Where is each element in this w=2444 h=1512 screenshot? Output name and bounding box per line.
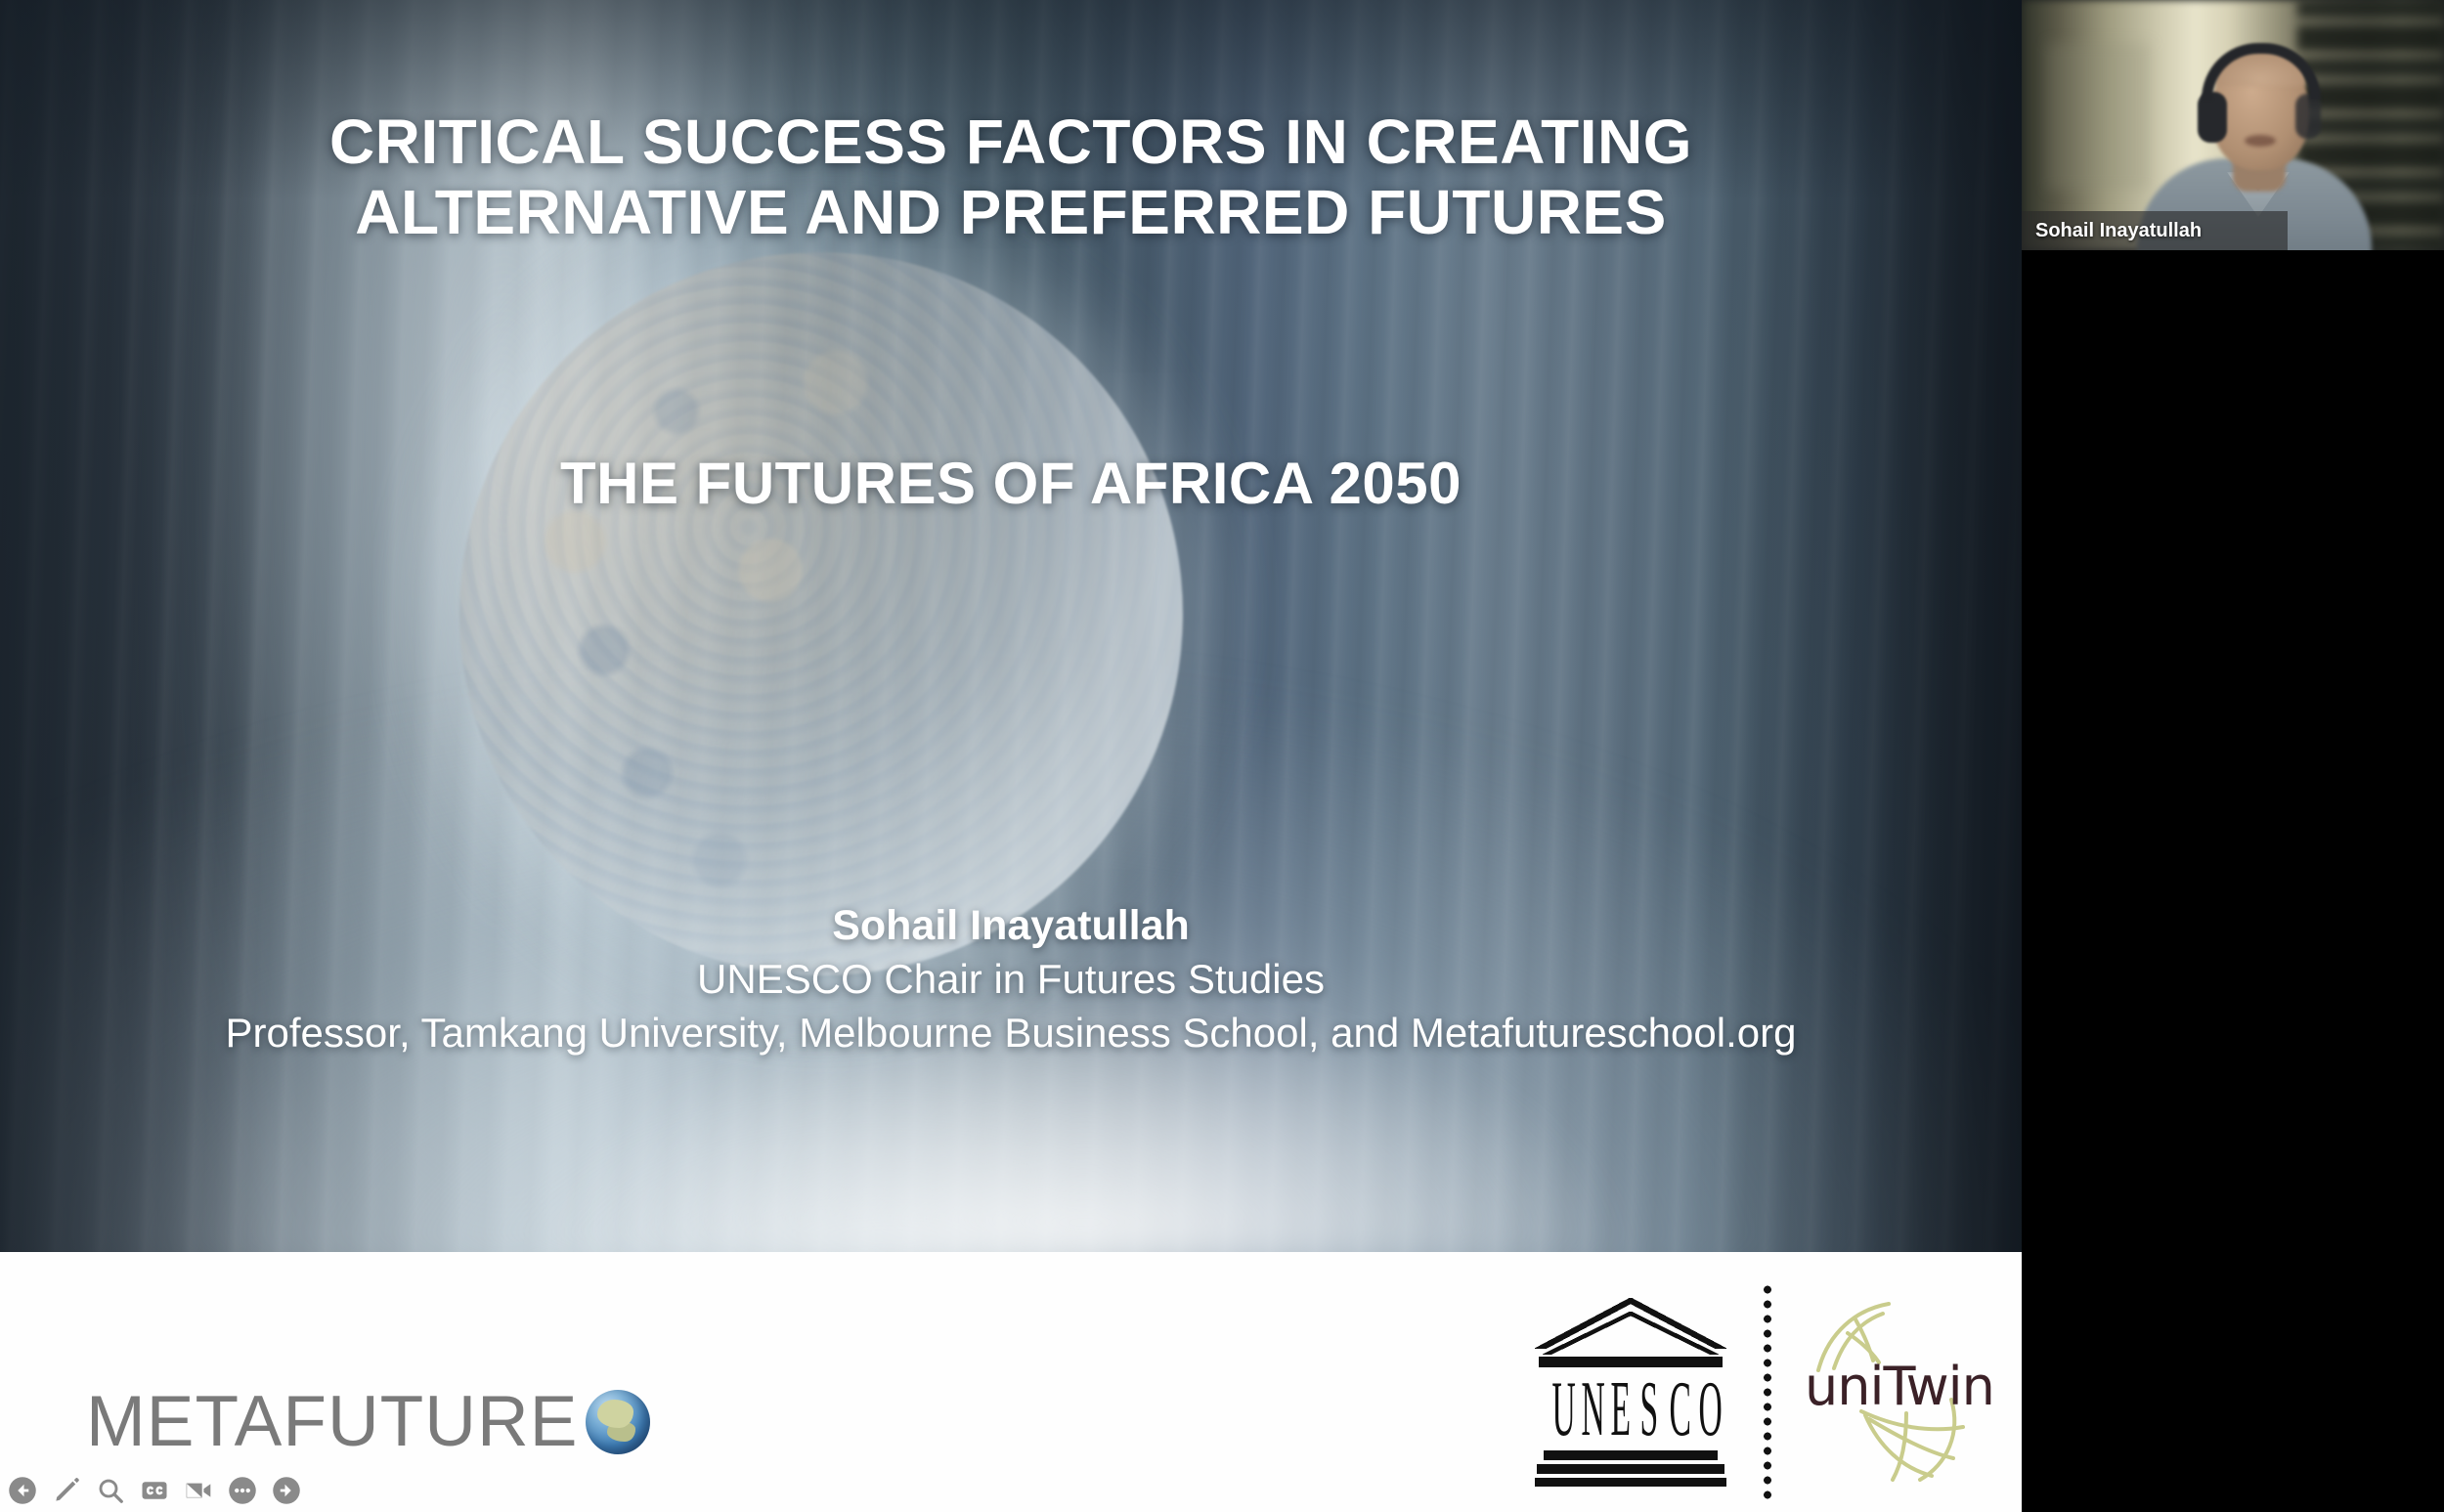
waterfall-background-image: CRITICAL SUCCESS FACTORS IN CREATING ALT…	[0, 0, 2022, 1252]
unesco-step-2	[1537, 1464, 1724, 1474]
unesco-logo: U N E S C O	[1535, 1298, 1726, 1482]
earth-globe-icon	[586, 1390, 650, 1454]
slide-title: CRITICAL SUCCESS FACTORS IN CREATING ALT…	[0, 108, 2022, 247]
unesco-columns: U N E S C O	[1545, 1372, 1717, 1447]
forward-arrow-icon[interactable]	[270, 1474, 303, 1507]
closed-caption-icon[interactable]	[138, 1474, 171, 1507]
presentation-viewer: CRITICAL SUCCESS FACTORS IN CREATING ALT…	[0, 0, 2444, 1512]
unesco-step-1	[1544, 1450, 1718, 1460]
metafuture-logo: METAFUTURE	[86, 1386, 650, 1457]
unesco-column-c: C	[1670, 1372, 1680, 1447]
headphone-cup-right	[2295, 94, 2321, 139]
unitwin-wordmark: uniTwin	[1805, 1361, 1988, 1413]
camera-off-icon[interactable]	[182, 1474, 215, 1507]
pencil-icon[interactable]	[50, 1474, 83, 1507]
background-doorframe	[2047, 43, 2151, 190]
unesco-column-u: U	[1552, 1372, 1563, 1447]
slide-author-block: Sohail Inayatullah UNESCO Chair in Futur…	[0, 899, 2022, 1059]
metafuture-wordmark: METAFUTURE	[86, 1386, 578, 1457]
headphone-band	[2202, 43, 2321, 100]
unesco-column-s: S	[1640, 1372, 1651, 1447]
author-name: Sohail Inayatullah	[0, 899, 2022, 953]
slide-canvas[interactable]: CRITICAL SUCCESS FACTORS IN CREATING ALT…	[0, 0, 2022, 1512]
unesco-column-n: N	[1582, 1372, 1593, 1447]
unesco-pediment-inner	[1543, 1312, 1719, 1355]
participant-name: Sohail Inayatullah	[2035, 220, 2202, 242]
title-line-1: CRITICAL SUCCESS FACTORS IN CREATING	[0, 108, 2022, 178]
participant-name-badge: Sohail Inayatullah	[2022, 211, 2288, 250]
unesco-column-e: E	[1611, 1372, 1622, 1447]
participant-mouth	[2245, 135, 2276, 147]
slide-subtitle: THE FUTURES OF AFRICA 2050	[0, 450, 2022, 517]
unesco-column-o: O	[1699, 1372, 1710, 1447]
back-arrow-icon[interactable]	[6, 1474, 39, 1507]
title-line-2: ALTERNATIVE AND PREFERRED FUTURES	[0, 178, 2022, 248]
search-icon[interactable]	[94, 1474, 127, 1507]
logo-divider-dotted	[1763, 1282, 1772, 1499]
author-affiliation: Professor, Tamkang University, Melbourne…	[0, 1007, 2022, 1060]
subtitle-line-1: THE FUTURES OF AFRICA 2050	[0, 450, 2022, 517]
unesco-step-3	[1535, 1478, 1726, 1487]
participant-video-tile[interactable]: Sohail Inayatullah	[2022, 0, 2444, 250]
more-options-icon[interactable]	[226, 1474, 259, 1507]
presentation-toolbar[interactable]	[0, 1469, 332, 1512]
author-role: UNESCO Chair in Futures Studies	[0, 953, 2022, 1007]
unitwin-logo: uniTwin	[1805, 1290, 1988, 1491]
